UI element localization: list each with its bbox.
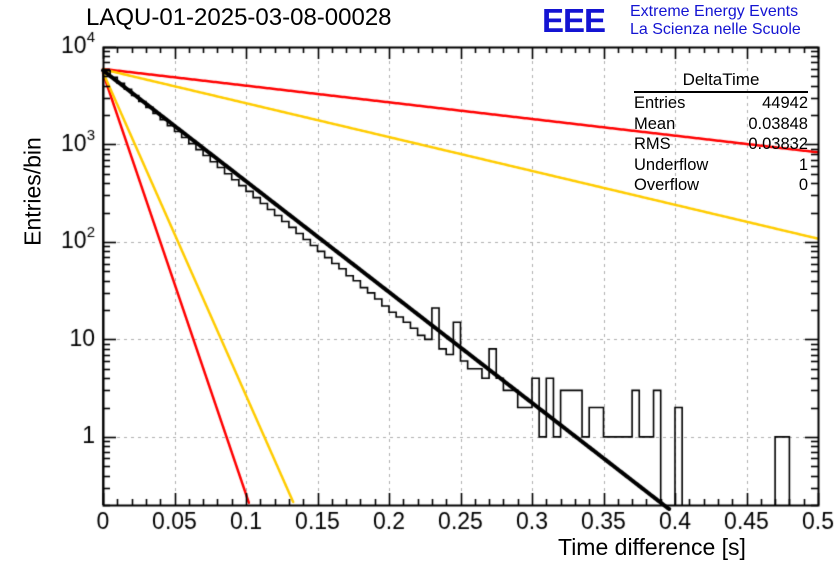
statistics-row-key: Entries [634,93,685,114]
statistics-row-value: 0 [799,175,808,196]
statistics-row-value: 1 [799,155,808,176]
statistics-row: Underflow1 [634,155,808,176]
statistics-box: DeltaTime Entries44942Mean0.03848RMS0.03… [634,70,808,196]
statistics-row-value: 44942 [762,93,808,114]
statistics-row-key: RMS [634,134,671,155]
eee-logo-line1: Extreme Energy Events [630,3,801,21]
eee-logo: EEE Extreme Energy Events La Scienza nel… [542,2,834,40]
eee-logo-line2: La Scienza nelle Scuole [630,21,801,39]
plot-root: LAQU-01-2025-03-08-00028 EEE Extreme Ene… [0,0,836,572]
statistics-row: Mean0.03848 [634,114,808,135]
statistics-rows: Entries44942Mean0.03848RMS0.03832Underfl… [634,93,808,196]
statistics-row-key: Overflow [634,175,699,196]
statistics-row-key: Underflow [634,155,708,176]
statistics-row-key: Mean [634,114,675,135]
statistics-row: Overflow0 [634,175,808,196]
eee-logo-mark: EEE [542,4,605,37]
y-axis-title: Entries/bin [20,97,47,287]
statistics-row-value: 0.03832 [748,134,808,155]
eee-logo-text: Extreme Energy Events La Scienza nelle S… [630,3,801,39]
page-title: LAQU-01-2025-03-08-00028 [86,4,392,32]
statistics-row: Entries44942 [634,93,808,114]
x-axis-title: Time difference [s] [558,534,746,561]
statistics-title: DeltaTime [634,70,808,91]
statistics-row-value: 0.03848 [748,114,808,135]
statistics-row: RMS0.03832 [634,134,808,155]
